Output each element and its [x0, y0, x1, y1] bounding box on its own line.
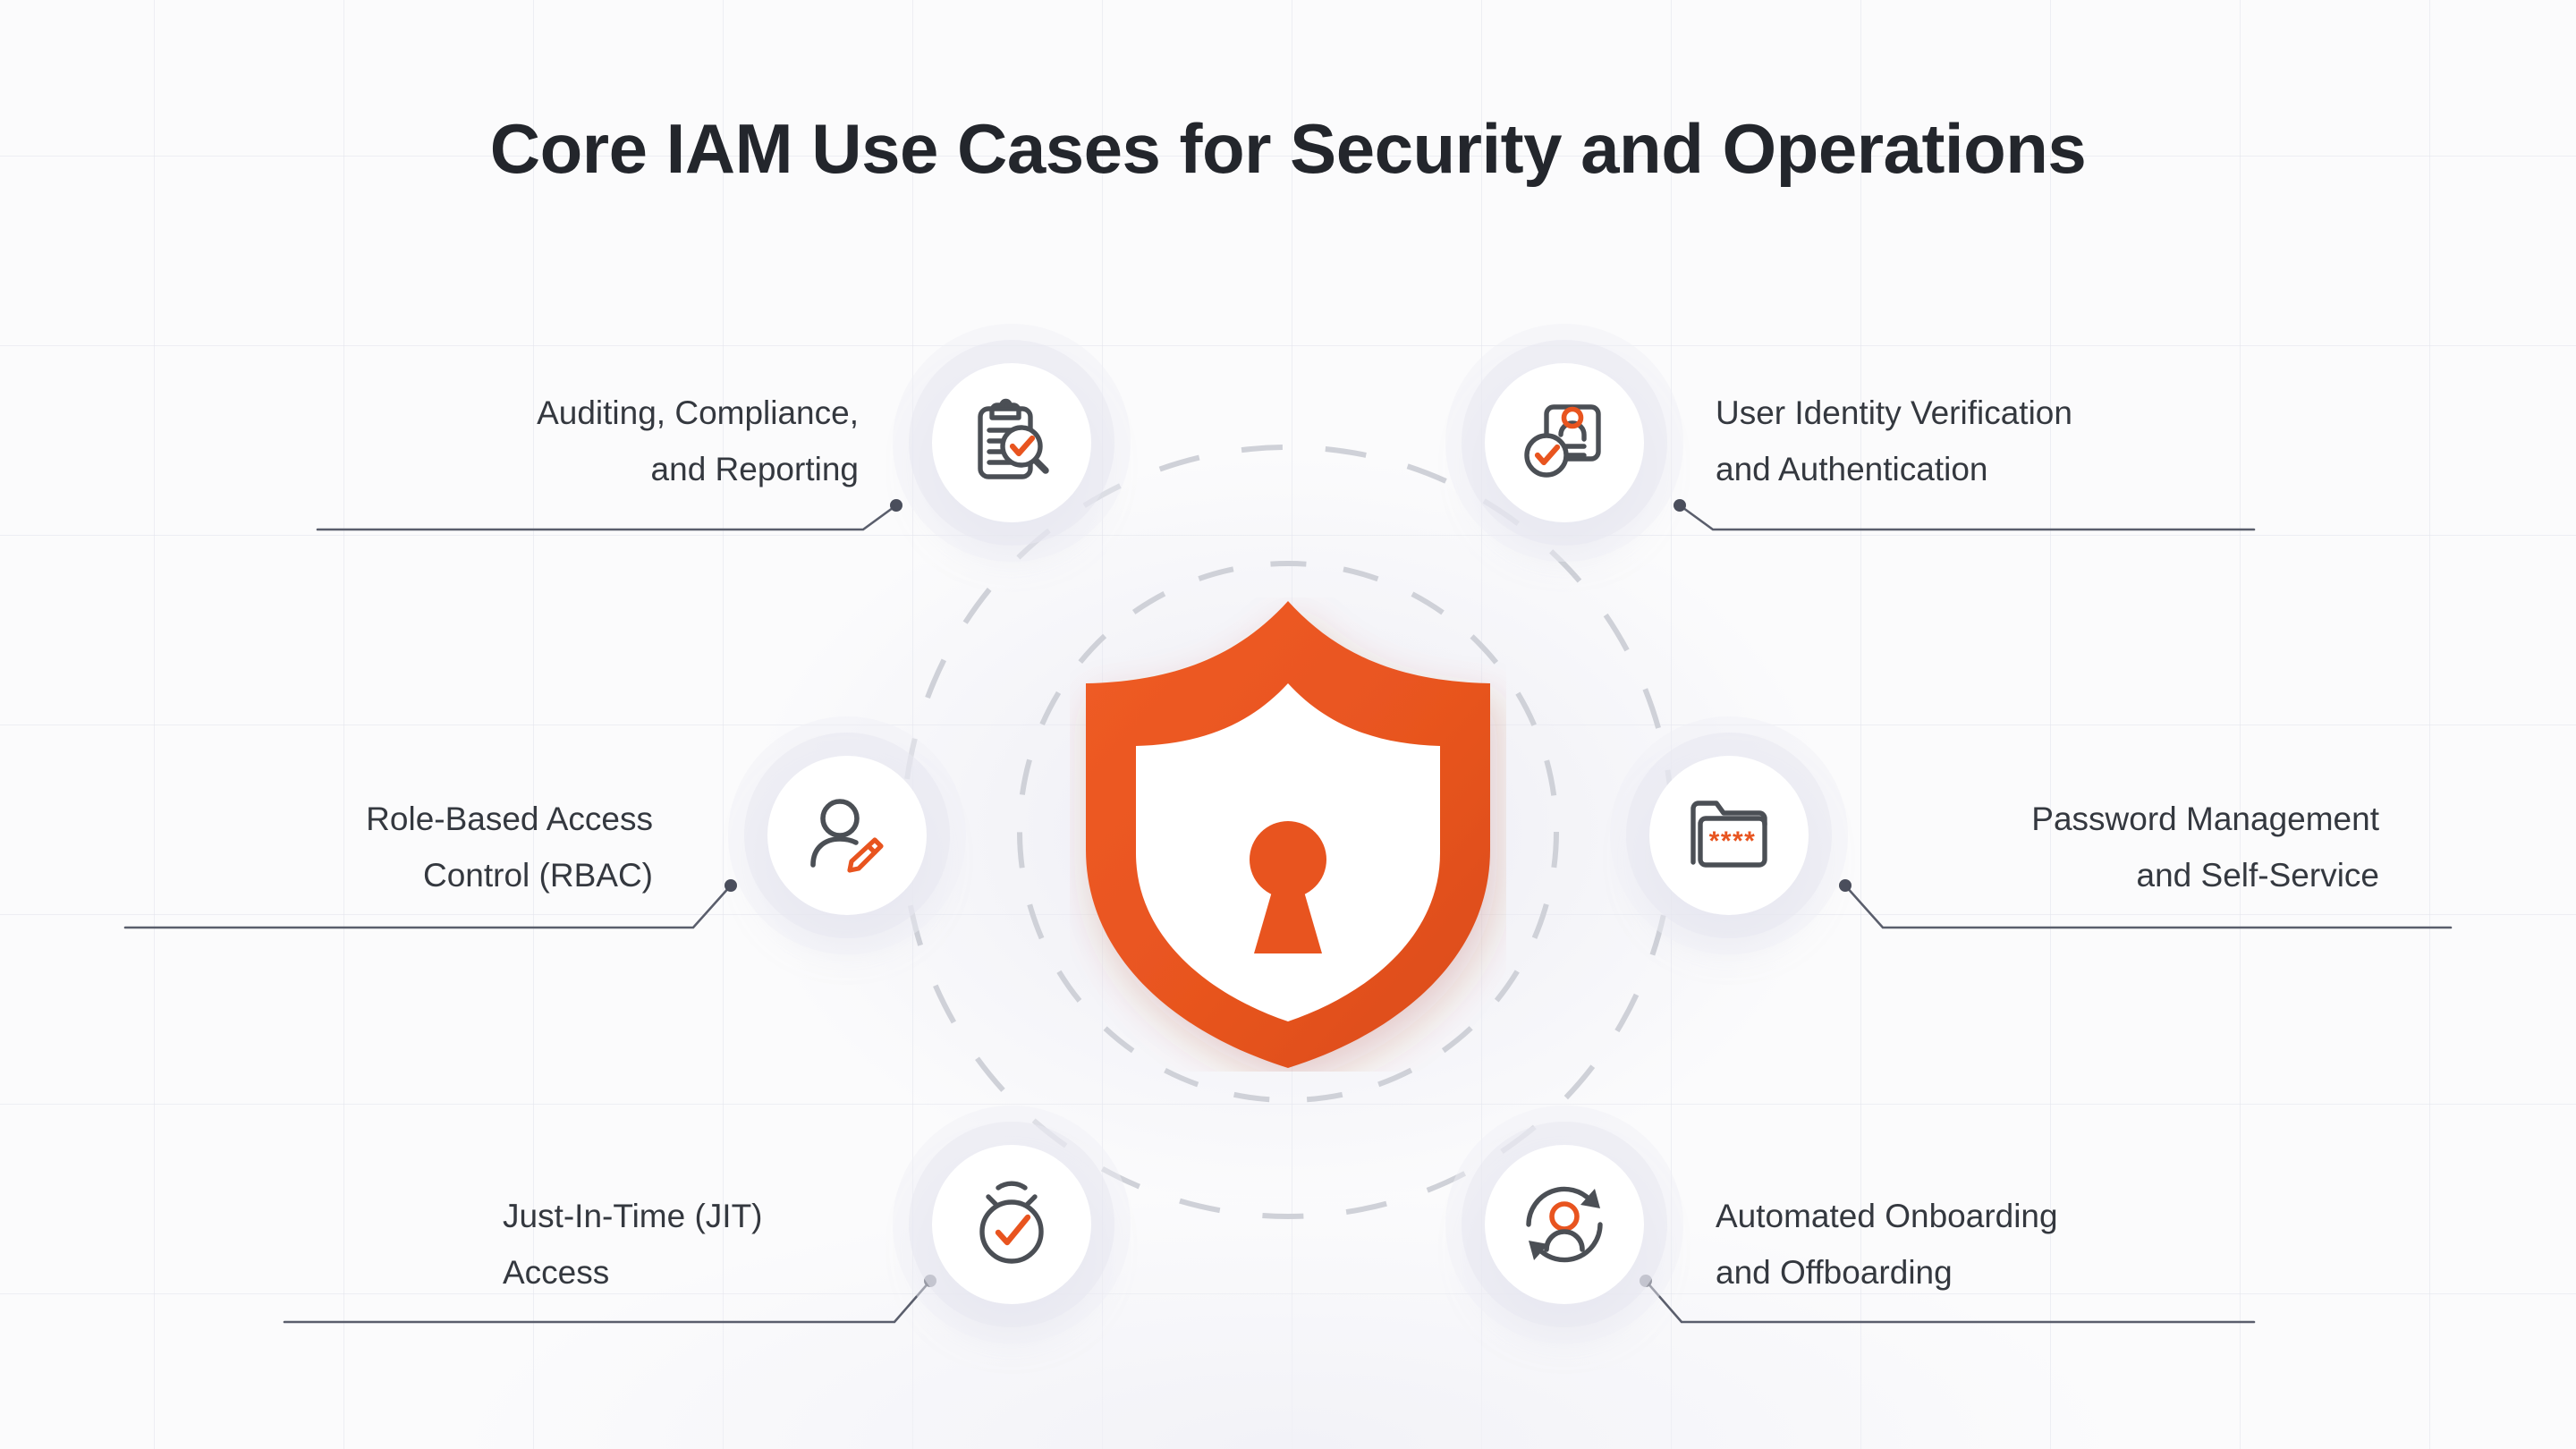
connector-dot-password — [1839, 879, 1851, 892]
center-shield — [1070, 597, 1506, 1072]
infographic-canvas: Core IAM Use Cases for Security and Oper… — [0, 0, 2576, 1449]
label-password-management-self-service: Password Management and Self-Service — [1878, 791, 2379, 903]
label-line: Control (RBAC) — [170, 847, 653, 903]
label-line: Role-Based Access — [170, 791, 653, 847]
label-line: Auditing, Compliance, — [304, 385, 859, 441]
shield-keyhole-icon — [1070, 597, 1506, 1072]
node-role-based-access-control[interactable] — [767, 756, 927, 915]
connector-auditing-compliance-reporting — [318, 505, 896, 530]
label-line: and Self-Service — [1878, 847, 2379, 903]
label-line: and Offboarding — [1716, 1244, 2216, 1301]
connector-user-identity-verification — [1680, 505, 2254, 530]
label-line: Just-In-Time (JIT) — [503, 1188, 950, 1244]
label-role-based-access-control: Role-Based Access Control (RBAC) — [170, 791, 653, 903]
node-auditing-compliance-reporting[interactable] — [932, 363, 1091, 522]
label-line: Automated Onboarding — [1716, 1188, 2216, 1244]
clipboard-magnifier-check-icon — [965, 396, 1058, 489]
node-automated-onboarding-offboarding[interactable] — [1485, 1145, 1644, 1304]
connector-dot-identity — [1674, 499, 1686, 512]
label-line: and Reporting — [304, 441, 859, 497]
cycle-user-arrows-icon — [1518, 1178, 1611, 1271]
label-line: User Identity Verification — [1716, 385, 2288, 441]
label-line: and Authentication — [1716, 441, 2288, 497]
connector-dot-auditing — [890, 499, 902, 512]
label-automated-onboarding-offboarding: Automated Onboarding and Offboarding — [1716, 1188, 2216, 1301]
label-just-in-time-access: Just-In-Time (JIT) Access — [503, 1188, 950, 1301]
label-auditing-compliance-reporting: Auditing, Compliance, and Reporting — [304, 385, 859, 497]
folder-asterisks-icon: **** — [1682, 789, 1775, 882]
node-password-management-self-service[interactable]: **** — [1649, 756, 1809, 915]
label-user-identity-verification: User Identity Verification and Authentic… — [1716, 385, 2288, 497]
node-user-identity-verification[interactable] — [1485, 363, 1644, 522]
password-mask-text: **** — [1709, 826, 1757, 856]
connector-dot-onboarding — [1640, 1275, 1652, 1287]
node-just-in-time-access[interactable] — [932, 1145, 1091, 1304]
label-line: Access — [503, 1244, 950, 1301]
id-card-check-icon — [1518, 396, 1611, 489]
alarm-clock-check-icon — [965, 1178, 1058, 1271]
label-line: Password Management — [1878, 791, 2379, 847]
user-pencil-icon — [801, 789, 894, 882]
connector-dot-rbac — [724, 879, 737, 892]
